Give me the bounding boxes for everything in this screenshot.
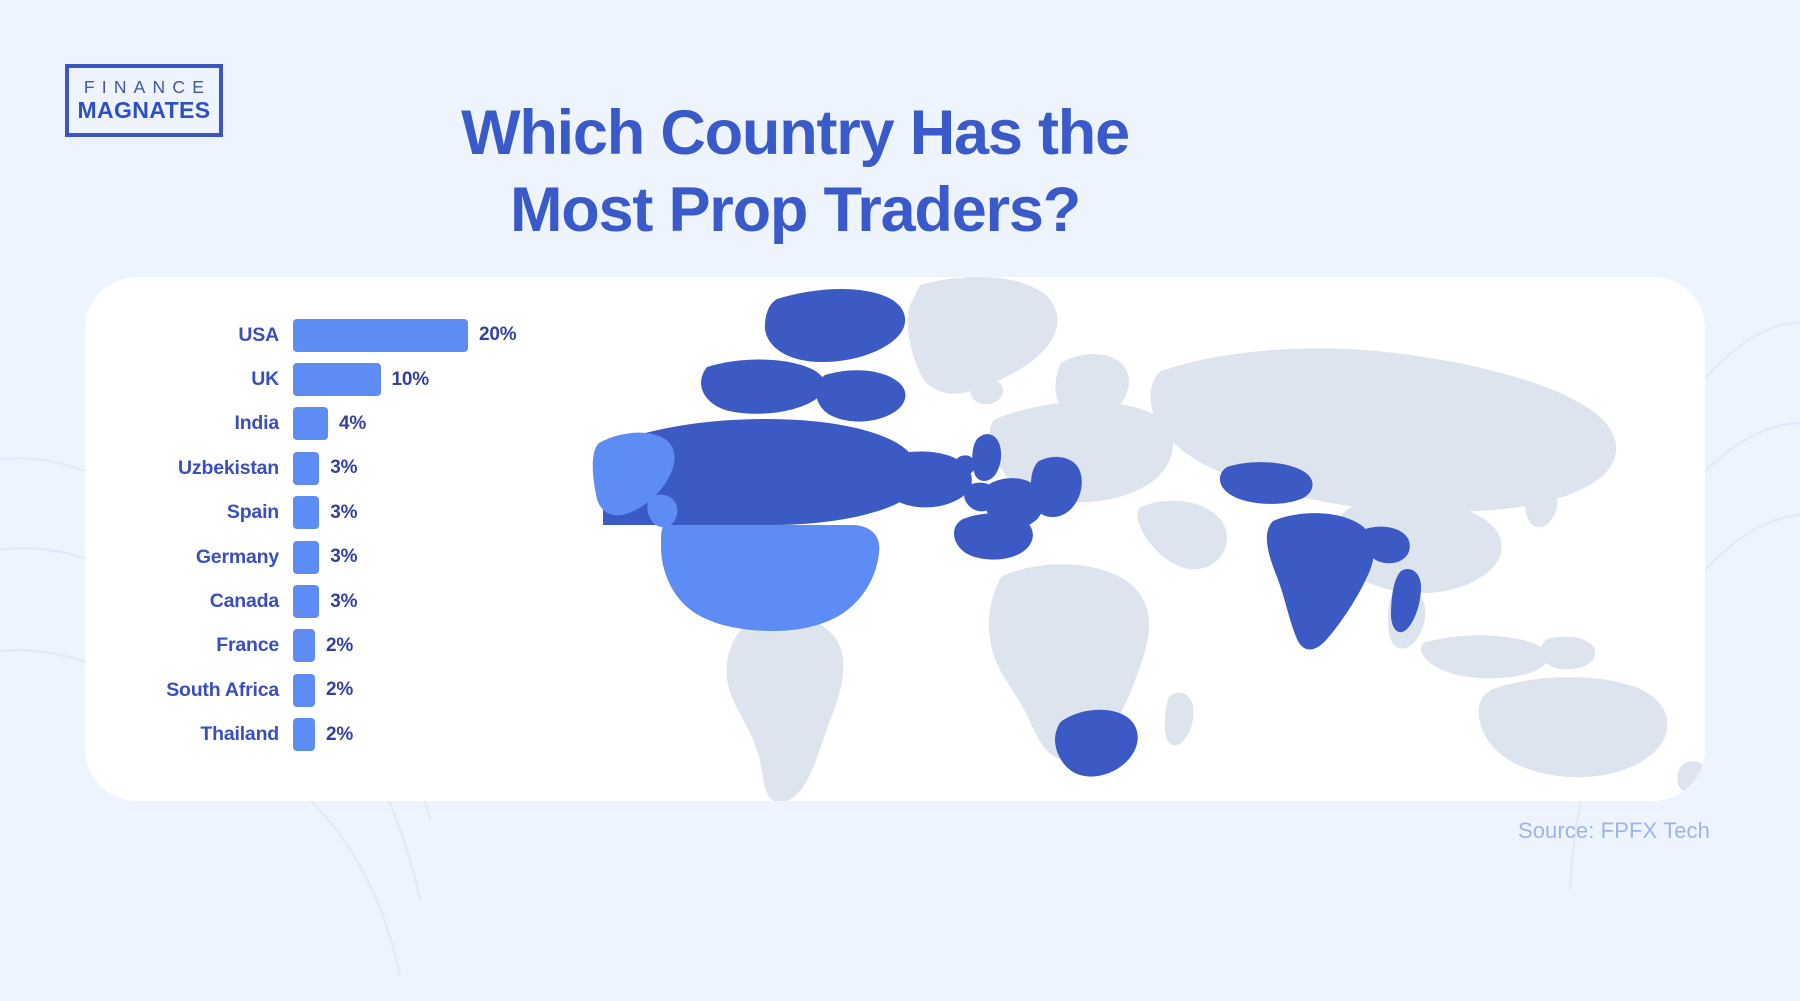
page-title: Which Country Has the Most Prop Traders? bbox=[330, 95, 1260, 249]
bar-fill bbox=[293, 363, 381, 396]
map-country-germany bbox=[1031, 457, 1082, 517]
finance-magnates-logo[interactable]: FINANCE MAGNATES bbox=[65, 64, 223, 137]
map-country-spain bbox=[954, 513, 1033, 559]
bar-category-label: France bbox=[130, 634, 293, 657]
bar-value-label: 2% bbox=[326, 635, 353, 657]
map-country-united-states bbox=[661, 525, 879, 631]
bar-chart: USA20%UK10%India4%Uzbekistan3%Spain3%Ger… bbox=[130, 313, 550, 757]
bar-track: 3% bbox=[293, 496, 357, 529]
bar-fill bbox=[293, 496, 319, 529]
map-country-canada-arctic-3 bbox=[816, 370, 905, 421]
bar-row: Thailand2% bbox=[130, 713, 550, 757]
bar-track: 2% bbox=[293, 674, 353, 707]
bar-row: France2% bbox=[130, 624, 550, 668]
bar-value-label: 3% bbox=[330, 546, 357, 568]
bar-category-label: USA bbox=[130, 324, 293, 347]
bar-category-label: Germany bbox=[130, 546, 293, 569]
bar-row: India4% bbox=[130, 402, 550, 446]
bar-row: USA20% bbox=[130, 313, 550, 357]
map-country-united-kingdom bbox=[972, 434, 1001, 481]
bar-category-label: India bbox=[130, 412, 293, 435]
bar-track: 4% bbox=[293, 407, 366, 440]
source-credit: Source: FPFX Tech bbox=[1518, 818, 1710, 844]
bar-value-label: 20% bbox=[479, 324, 516, 346]
bar-row: South Africa2% bbox=[130, 668, 550, 712]
bar-fill bbox=[293, 319, 468, 352]
world-map bbox=[525, 277, 1705, 801]
infographic-card: USA20%UK10%India4%Uzbekistan3%Spain3%Ger… bbox=[85, 277, 1705, 801]
bar-category-label: Canada bbox=[130, 590, 293, 613]
map-country-india bbox=[1267, 513, 1374, 649]
bar-category-label: Uzbekistan bbox=[130, 457, 293, 480]
bar-fill bbox=[293, 585, 319, 618]
bar-track: 10% bbox=[293, 363, 429, 396]
bar-track: 3% bbox=[293, 452, 357, 485]
bar-track: 20% bbox=[293, 319, 516, 352]
bar-fill bbox=[293, 452, 319, 485]
bar-row: UK10% bbox=[130, 357, 550, 401]
bar-category-label: UK bbox=[130, 368, 293, 391]
bar-row: Germany3% bbox=[130, 535, 550, 579]
bar-track: 2% bbox=[293, 718, 353, 751]
bar-category-label: Thailand bbox=[130, 723, 293, 746]
page-title-line-2: Most Prop Traders? bbox=[330, 172, 1260, 249]
map-country-south-africa bbox=[1055, 710, 1138, 777]
bar-category-label: Spain bbox=[130, 501, 293, 524]
bar-fill bbox=[293, 718, 315, 751]
bar-track: 2% bbox=[293, 629, 353, 662]
world-map-svg bbox=[525, 277, 1705, 801]
bar-fill bbox=[293, 629, 315, 662]
bar-value-label: 2% bbox=[326, 724, 353, 746]
bar-row: Canada3% bbox=[130, 579, 550, 623]
bar-fill bbox=[293, 407, 328, 440]
logo-text-finance: FINANCE bbox=[77, 77, 211, 97]
bar-track: 3% bbox=[293, 541, 357, 574]
bar-value-label: 10% bbox=[392, 369, 429, 391]
bar-value-label: 3% bbox=[330, 502, 357, 524]
bar-fill bbox=[293, 541, 319, 574]
bar-category-label: South Africa bbox=[130, 679, 293, 702]
map-country-canada-arctic-1 bbox=[765, 289, 905, 362]
bar-track: 3% bbox=[293, 585, 357, 618]
bar-row: Spain3% bbox=[130, 491, 550, 535]
bar-value-label: 3% bbox=[330, 591, 357, 613]
page-title-line-1: Which Country Has the bbox=[330, 95, 1260, 172]
logo-text-magnates: MAGNATES bbox=[77, 97, 210, 123]
bar-value-label: 3% bbox=[330, 457, 357, 479]
bar-row: Uzbekistan3% bbox=[130, 446, 550, 490]
bar-value-label: 2% bbox=[326, 679, 353, 701]
map-country-canada-arctic-2 bbox=[701, 360, 825, 414]
bar-fill bbox=[293, 674, 315, 707]
bar-value-label: 4% bbox=[339, 413, 366, 435]
